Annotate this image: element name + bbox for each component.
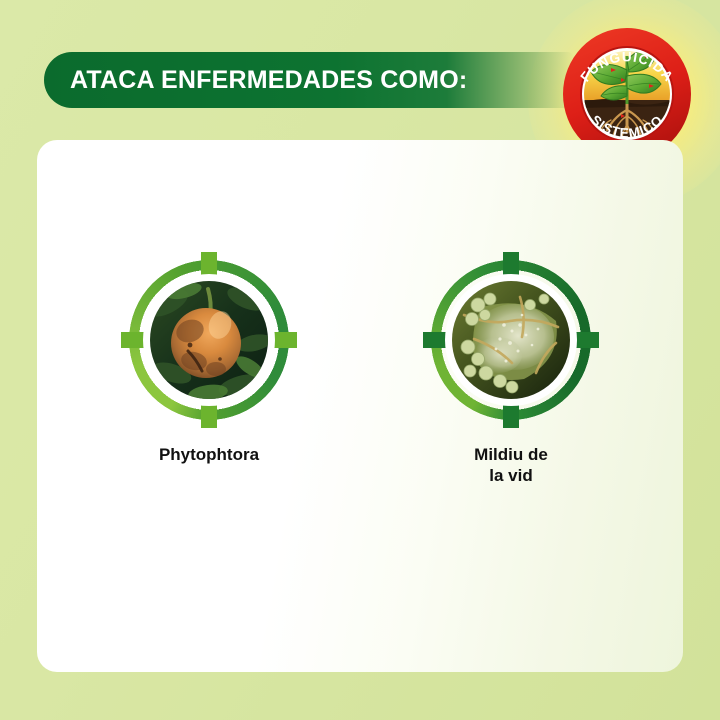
crosshair-target-icon — [423, 252, 599, 428]
disease-item-phytophtora[interactable]: Phytophtora — [114, 252, 304, 487]
header-banner: ATACA ENFERMEDADES COMO: — [44, 52, 574, 108]
grape-cluster-downy-mildew-photo — [452, 281, 570, 399]
content-card: Phytophtora — [37, 140, 683, 672]
crosshair-target-icon — [121, 252, 297, 428]
page-title: ATACA ENFERMEDADES COMO: — [70, 66, 467, 95]
disease-label: Mildiu de la vid — [474, 444, 548, 487]
disease-item-mildiu-de-la-vid[interactable]: Mildiu de la vid — [416, 252, 606, 487]
disease-list: Phytophtora — [37, 252, 683, 487]
poster-canvas: ATACA ENFERMEDADES COMO: — [0, 0, 720, 720]
disease-label: Phytophtora — [159, 444, 259, 465]
rotted-citrus-fruit-photo — [150, 281, 268, 399]
